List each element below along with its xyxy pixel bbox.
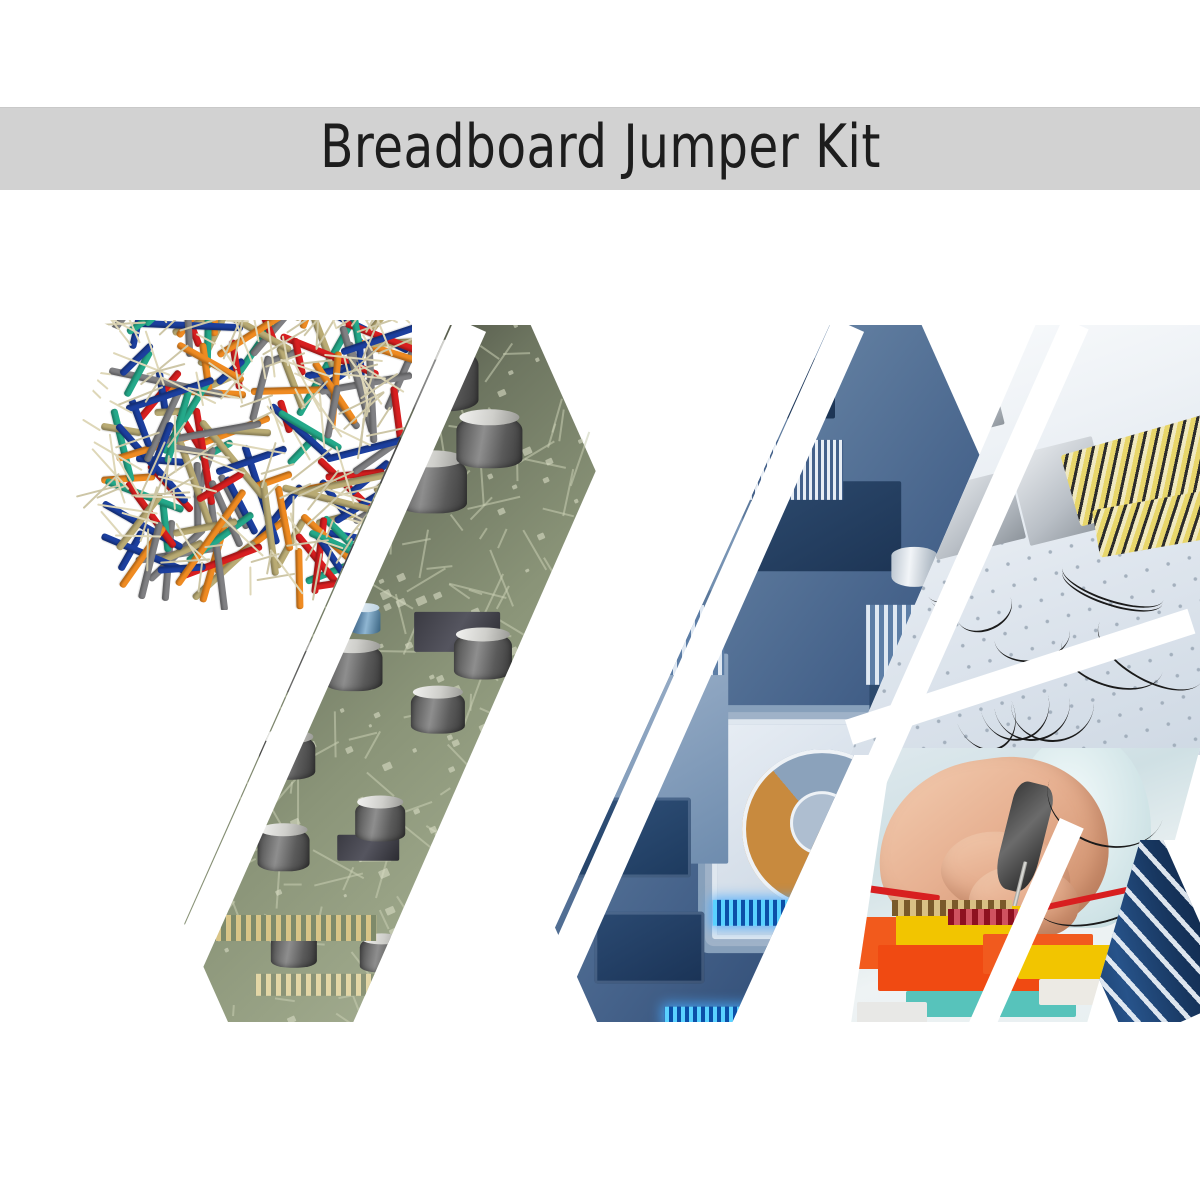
collage-left-mask <box>0 200 50 1062</box>
title-banner: Breadboard Jumper Kit <box>0 107 1200 191</box>
collage-top-mask <box>0 190 1200 320</box>
page-title: Breadboard Jumper Kit <box>320 117 881 181</box>
collage-bottom-mask <box>0 1022 1200 1062</box>
product-image-collage <box>0 200 1200 1040</box>
